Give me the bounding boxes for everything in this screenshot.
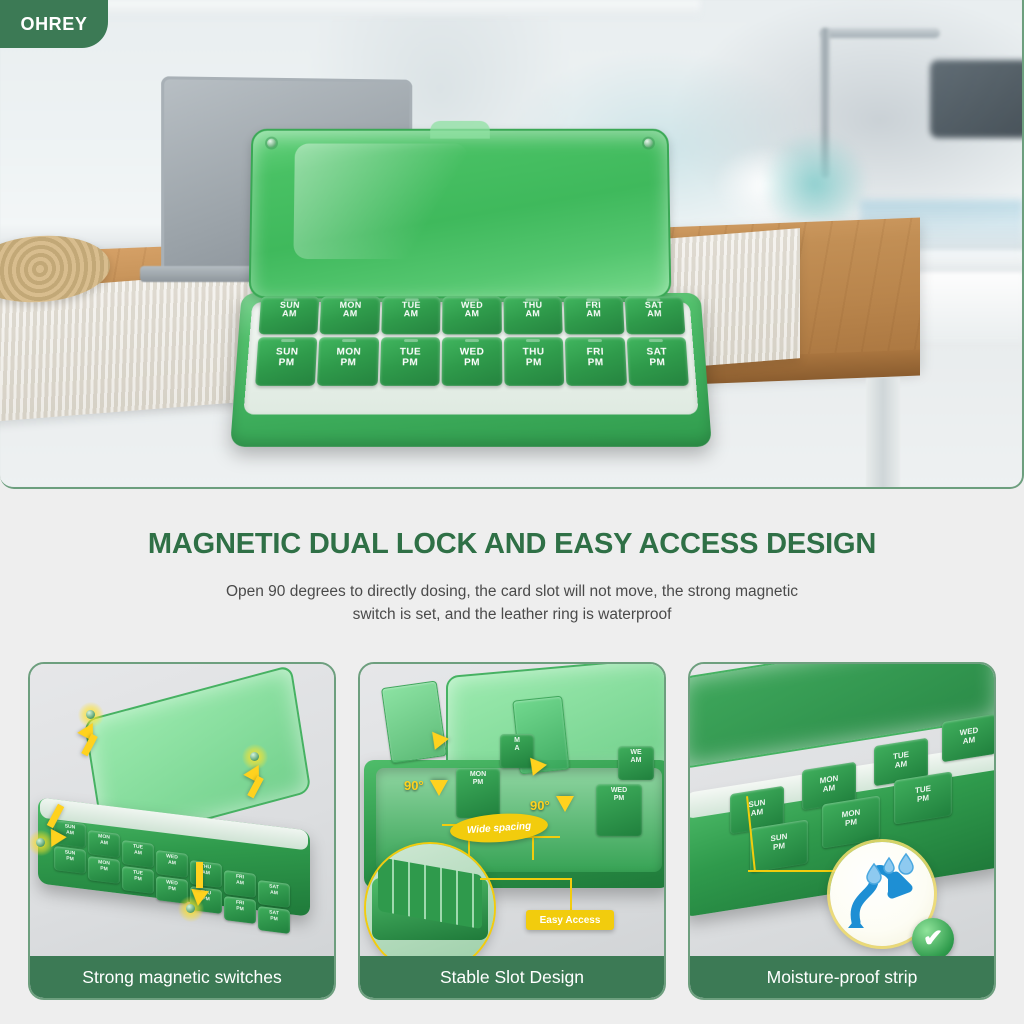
day-column-tue: TUEAMTUEPM [379, 297, 440, 391]
panel-3-compartment-sun-pm: SUNPM [750, 819, 808, 872]
panel-1-compartment-sat-pm: SATPM [258, 906, 290, 934]
compartment-tue-am: TUEAM [381, 297, 441, 335]
lid-highlight [293, 144, 468, 260]
organizer-lid [249, 129, 672, 299]
compartment-slot [586, 298, 600, 301]
panel-3-caption: Moisture-proof strip [690, 956, 994, 998]
panel-1-compartment-tue-am: TUEAM [122, 840, 154, 868]
compartment-slot [465, 298, 479, 301]
compartment-mon-am: MONAM [320, 297, 380, 335]
compartment-thu-pm: THUPM [504, 337, 565, 386]
day-column-fri: FRIAMFRIPM [564, 297, 627, 391]
day-column-thu: THUAMTHUPM [503, 297, 564, 391]
compartment-slot [344, 298, 358, 301]
easy-access-inset [366, 844, 494, 972]
panel-3-compartment-tue-pm: TUEPM [894, 771, 952, 824]
panel-2-compartment-wed-pm: WEDPM [596, 784, 642, 836]
compartment-slot [647, 298, 661, 301]
compartment-slot [465, 339, 479, 342]
angle-label-right: 90° [530, 798, 550, 813]
table-leg [866, 378, 900, 489]
compartment-wed-pm: WEDPM [442, 337, 502, 386]
panel-2-open-lid-left [381, 680, 447, 763]
magnet-switch-icon [250, 752, 259, 761]
down-arrow-icon [556, 796, 574, 812]
panel-2-caption: Stable Slot Design [360, 956, 664, 998]
panel-1-compartment-thu-am: THUAM [190, 860, 222, 888]
panel-strong-magnetic-switches: SUNAMSUNPMMONAMMONPMTUEAMTUEPMWEDAMWEDPM… [28, 662, 336, 1000]
panel-1-caption: Strong magnetic switches [30, 956, 334, 998]
easy-access-badge: Easy Access [526, 910, 614, 930]
faucet-arm [820, 28, 940, 38]
compartment-thu-am: THUAM [503, 297, 563, 335]
compartment-slot [526, 339, 540, 342]
compartment-slot [281, 339, 295, 342]
panel-1-compartment-wed-am: WEDAM [156, 850, 188, 878]
panel-3-artwork: SUNAMSUNPMMONAMMONPMTUEAMTUEPMWEDAM [690, 664, 994, 998]
day-column-mon: MONAMMONPM [317, 297, 380, 391]
compartment-slot [649, 339, 663, 342]
magnet-dot-icon [267, 139, 276, 148]
compartment-sat-pm: SATPM [626, 337, 689, 386]
pointer-arrow-tail [196, 862, 203, 888]
pan-icon [930, 60, 1024, 138]
panel-2-compartment-we-am: WEAM [618, 746, 654, 780]
lid-knob [430, 121, 490, 139]
panel-1-compartment-tue-pm: TUEPM [122, 866, 154, 894]
easy-access-drop [570, 878, 572, 912]
feature-panels: SUNAMSUNPMMONAMMONPMTUEAMTUEPMWEDAMWEDPM… [28, 662, 996, 1000]
magnet-switch-icon [86, 710, 95, 719]
day-column-wed: WEDAMWEDPM [442, 297, 502, 391]
panel-3-compartment-mon-pm: MONPM [822, 795, 880, 848]
compartment-grid: SUNAMSUNPMMONAMMONPMTUEAMTUEPMWEDAMWEDPM… [255, 297, 690, 391]
day-column-sun: SUNAMSUNPM [255, 297, 320, 391]
day-column-sat: SATAMSATPM [624, 297, 689, 391]
pointer-arrow-icon [189, 889, 209, 907]
panel-3-compartment-wed-am: WEDAM [942, 714, 996, 763]
compartment-slot [404, 298, 418, 301]
compartment-slot [283, 298, 297, 301]
pill-organizer: SUNAMSUNPMMONAMMONPMTUEAMTUEPMWEDAMWEDPM… [236, 128, 706, 448]
product-marketing-page: SUNAMSUNPMMONAMMONPMTUEAMTUEPMWEDAMWEDPM… [0, 0, 1024, 1024]
panel-stable-slot-design: MONPMWEDPMMAWEAM 90° 90° Wide spacing [358, 662, 666, 1000]
panel-1-compartment-fri-pm: FRIPM [224, 896, 256, 924]
compartment-sun-pm: SUNPM [255, 337, 318, 386]
compartment-slot [404, 339, 418, 342]
angle-label-left: 90° [404, 778, 424, 793]
compartment-wed-am: WEDAM [442, 297, 501, 335]
measure-drop [532, 836, 534, 860]
panel-1-artwork: SUNAMSUNPMMONAMMONPMTUEAMTUEPMWEDAMWEDPM… [30, 664, 334, 998]
brand-name: OHREY [20, 14, 87, 35]
compartment-slot [588, 339, 602, 342]
panel-2-artwork: MONPMWEDPMMAWEAM 90° 90° Wide spacing [360, 664, 664, 998]
panel-2-compartment-mon-pm: MONPM [456, 768, 500, 818]
panel-moisture-proof-strip: SUNAMSUNPMMONAMMONPMTUEAMTUEPMWEDAM [688, 662, 996, 1000]
verified-check-icon: ✔ [912, 918, 954, 960]
panel-1-compartment-sat-am: SATAM [258, 880, 290, 908]
compartment-mon-pm: MONPM [317, 337, 379, 386]
panel-1-compartment-mon-am: MONAM [88, 830, 120, 858]
compartment-slot [342, 339, 356, 342]
hero-image: SUNAMSUNPMMONAMMONPMTUEAMTUEPMWEDAMWEDPM… [0, 0, 1024, 489]
compartment-fri-pm: FRIPM [565, 337, 627, 386]
brand-logo: OHREY [0, 0, 108, 48]
page-title: MAGNETIC DUAL LOCK AND EASY ACCESS DESIG… [0, 528, 1024, 561]
compartment-sun-am: SUNAM [259, 297, 320, 335]
magnet-dot-icon [644, 139, 653, 148]
compartment-tue-pm: TUEPM [380, 337, 441, 386]
easy-access-leader [480, 878, 572, 880]
down-arrow-icon [430, 780, 448, 796]
plant-icon [760, 130, 870, 220]
compartment-slot [526, 298, 540, 301]
page-subtitle: Open 90 degrees to directly dosing, the … [212, 580, 812, 627]
panel-1-compartment-fri-am: FRIAM [224, 870, 256, 898]
panel-1-compartment-mon-pm: MONPM [88, 856, 120, 884]
compartment-fri-am: FRIAM [564, 297, 624, 335]
compartment-sat-am: SATAM [624, 297, 685, 335]
